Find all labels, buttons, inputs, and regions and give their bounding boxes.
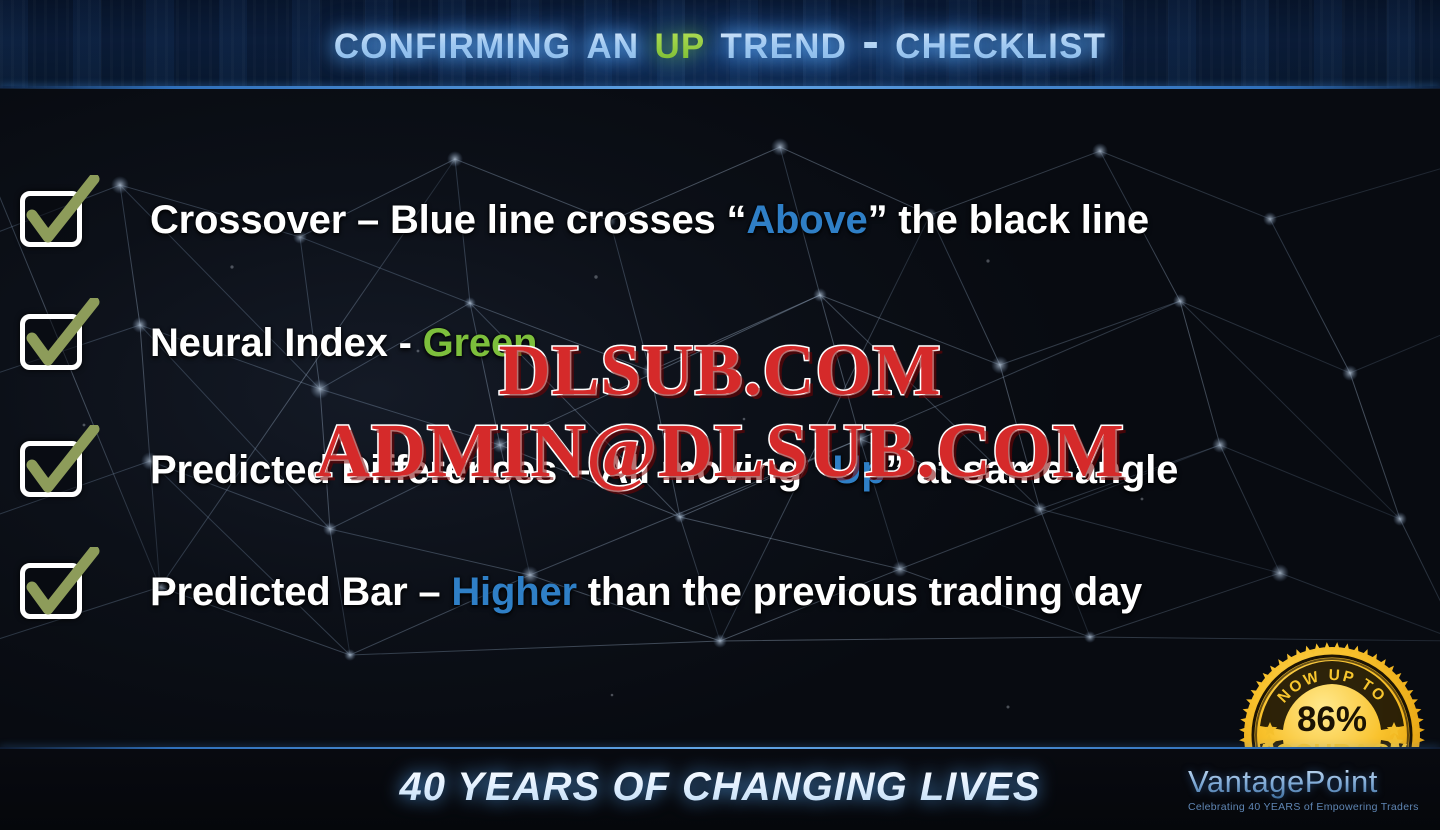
check-icon	[18, 298, 102, 374]
slide-footer: 40 YEARS OF CHANGING LIVES VantagePoint …	[0, 749, 1440, 830]
segment-text: Crossover – Blue line crosses “	[150, 198, 746, 242]
logo-subtitle: Celebrating 40 YEARS of Empowering Trade…	[1188, 801, 1424, 813]
segment-text: than the previous trading day	[577, 570, 1142, 614]
segment-text: Predicted Bar –	[150, 570, 451, 614]
checkbox-predicted-differences[interactable]	[20, 441, 84, 499]
checklist-item-label: Predicted Differences – All moving “Up” …	[150, 446, 1178, 494]
logo-wordmark: VantagePoint	[1188, 765, 1424, 799]
checklist-item-crossover[interactable]: Crossover – Blue line crosses “Above” th…	[0, 184, 1440, 256]
segment-text: Predicted Differences – All moving “	[150, 448, 833, 492]
slide-body: Crossover – Blue line crosses “Above” th…	[0, 89, 1440, 747]
segment-highlight: Higher	[451, 570, 576, 614]
checklist-item-label: Neural Index - Green	[150, 319, 537, 367]
check-icon	[18, 425, 102, 501]
checklist: Crossover – Blue line crosses “Above” th…	[0, 89, 1440, 747]
checklist-item-label: Crossover – Blue line crosses “Above” th…	[150, 196, 1149, 244]
checklist-item-label: Predicted Bar – Higher than the previous…	[150, 568, 1142, 616]
title-text: Trend - Checklist	[705, 13, 1106, 69]
segment-text: Neural Index -	[150, 321, 423, 365]
checkbox-neural-index[interactable]	[20, 314, 84, 372]
segment-highlight: Above	[746, 198, 867, 242]
page-title: Confirming An Up Trend - Checklist	[0, 12, 1440, 70]
vantagepoint-logo[interactable]: VantagePoint Celebrating 40 YEARS of Emp…	[1188, 765, 1424, 813]
segment-highlight: Green	[423, 321, 538, 365]
segment-text: ” at same angle	[886, 448, 1179, 492]
segment-highlight: Up	[833, 448, 886, 492]
badge-percent: 86%	[1297, 700, 1367, 739]
checklist-item-predicted-differences[interactable]: Predicted Differences – All moving “Up” …	[0, 434, 1440, 506]
slide-header: Confirming An Up Trend - Checklist	[0, 0, 1440, 88]
check-icon	[18, 175, 102, 251]
title-highlight: Up	[654, 13, 705, 69]
checklist-item-predicted-bar[interactable]: Predicted Bar – Higher than the previous…	[0, 556, 1440, 628]
segment-text: ” the black line	[868, 198, 1149, 242]
accuracy-seal-icon: NOW UP TO Documented & Verified 86% ACCU…	[1237, 640, 1427, 747]
checkbox-crossover[interactable]	[20, 191, 84, 249]
badge-main-text: ACCURACY	[1256, 738, 1408, 747]
checkbox-predicted-bar[interactable]	[20, 563, 84, 621]
title-text: Confirming An	[334, 13, 655, 69]
checklist-item-neural-index[interactable]: Neural Index - Green	[0, 307, 1440, 379]
check-icon	[18, 547, 102, 623]
slide-root: Confirming An Up Trend - Checklist	[0, 0, 1440, 830]
